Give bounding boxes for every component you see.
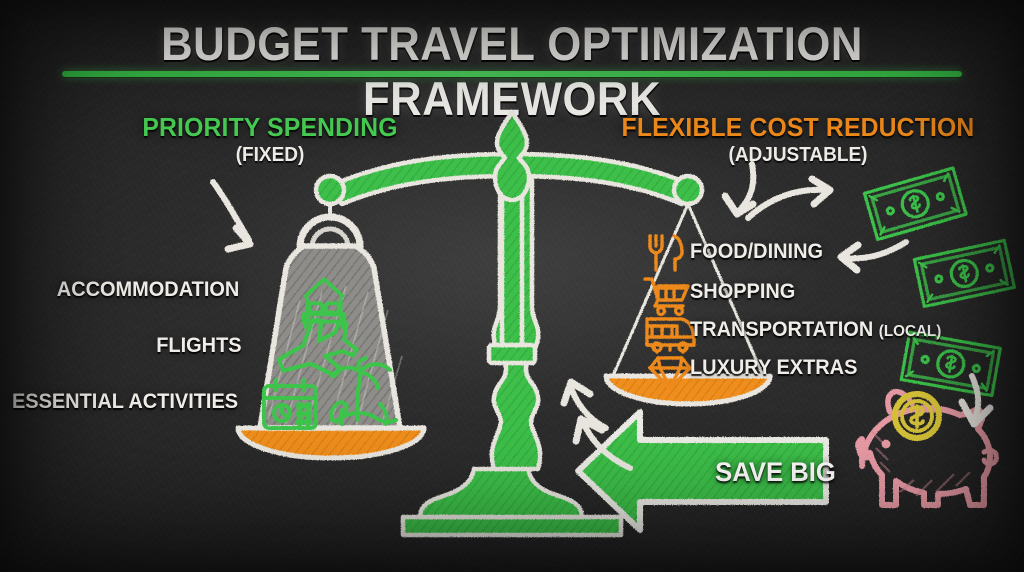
left-label-accommodation: ACCOMMODATION xyxy=(57,278,239,302)
dollar-coin xyxy=(895,394,939,438)
curved-arrow-to-weight xyxy=(213,182,250,249)
right-item-transportation-suffix: (LOCAL) xyxy=(879,323,941,340)
flow-arrow-right-inward xyxy=(725,164,753,214)
left-label-essential-activities: ESSENTIAL ACTIVITIES xyxy=(12,390,238,414)
flow-arrow-top-right xyxy=(748,179,830,218)
chalkboard-infographic: BUDGET TRAVEL OPTIMIZATION FRAMEWORK PRI… xyxy=(0,0,1024,572)
right-item-luxury-extras-label: LUXURY EXTRAS xyxy=(690,356,857,379)
flexible-cost-icons xyxy=(645,236,694,388)
right-item-shopping: SHOPPING xyxy=(690,280,795,304)
save-big-label[interactable]: SAVE BIG xyxy=(715,457,836,488)
right-item-transportation: TRANSPORTATION (LOCAL) xyxy=(690,318,941,342)
right-item-shopping-label: SHOPPING xyxy=(690,280,795,303)
right-item-food-dining: FOOD/DINING xyxy=(690,240,823,264)
money-bills-group xyxy=(864,168,1014,396)
flow-arrow-bottom-to-piggy xyxy=(962,376,990,424)
right-item-food-dining-label: FOOD/DINING xyxy=(690,240,823,263)
dollar-bill-1 xyxy=(864,168,966,239)
flow-arrow-down-right xyxy=(841,242,906,270)
left-label-flights: FLIGHTS xyxy=(156,334,241,358)
right-item-transportation-label: TRANSPORTATION xyxy=(690,318,873,341)
dollar-bill-2 xyxy=(914,240,1014,306)
right-item-luxury-extras: LUXURY EXTRAS xyxy=(690,356,857,380)
